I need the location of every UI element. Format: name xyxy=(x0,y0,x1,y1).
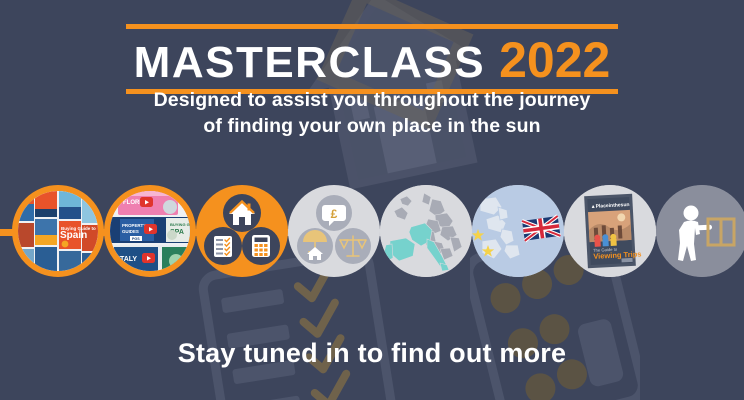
svg-text:GUIDES: GUIDES xyxy=(122,229,139,234)
svg-text:PROPERTY: PROPERTY xyxy=(122,223,146,228)
title-block: MASTERCLASS 2022 xyxy=(0,24,744,94)
subtitle-line-2: of finding your own place in the sun xyxy=(0,114,744,140)
subtitle: Designed to assist you throughout the jo… xyxy=(0,88,744,140)
timeline: Buying Guide to Spain FLORIDA PROPERTY G… xyxy=(0,185,744,281)
video-thumbnails-icon: FLORIDA PROPERTY GUIDES PGS BUYING GUIDE… xyxy=(110,191,190,271)
subtitle-line-1: Designed to assist you throughout the jo… xyxy=(0,88,744,114)
svg-text:ITALY: ITALY xyxy=(118,256,137,263)
magazines-icon: Buying Guide to Spain xyxy=(18,191,98,271)
page-title-year: 2022 xyxy=(499,35,610,85)
eu-uk-flags-icon xyxy=(472,185,564,277)
title-row: MASTERCLASS 2022 xyxy=(0,33,744,86)
checklist-icon xyxy=(214,236,232,257)
timeline-step-destinations-map[interactable] xyxy=(380,185,472,277)
magazine-cover-title: Spain xyxy=(60,230,87,241)
timeline-step-finance-legal[interactable]: £ xyxy=(288,185,380,277)
timeline-step-removals[interactable] xyxy=(656,185,744,277)
cta-text: Stay tuned in to find out more xyxy=(0,338,744,369)
page-title: MASTERCLASS xyxy=(134,41,485,85)
timeline-step-videos[interactable]: FLORIDA PROPERTY GUIDES PGS BUYING GUIDE… xyxy=(104,185,196,277)
person-carrying-box-icon xyxy=(656,185,744,277)
calculator-icon xyxy=(252,235,270,257)
guide-cover-icon: ▲Placeinthesun The Guide to Viewing Tr xyxy=(564,185,656,277)
timeline-step-brexit[interactable] xyxy=(472,185,564,277)
pound-symbol: £ xyxy=(331,207,338,221)
svg-text:PGS: PGS xyxy=(132,237,140,241)
europe-map-icon xyxy=(380,185,472,277)
timeline-step-viewing-trips-guide[interactable]: ▲Placeinthesun The Guide to Viewing Tr xyxy=(564,185,656,277)
currency-insurance-legal-icon: £ xyxy=(288,185,380,277)
timeline-step-magazines[interactable]: Buying Guide to Spain xyxy=(12,185,104,277)
masterclass-banner: MASTERCLASS 2022 Designed to assist you … xyxy=(0,0,744,400)
house-checklist-calculator-icon xyxy=(196,185,288,277)
svg-text:BUYING GUIDE: BUYING GUIDE xyxy=(170,222,190,227)
title-rule-top xyxy=(126,24,618,29)
timeline-step-property-search[interactable] xyxy=(196,185,288,277)
